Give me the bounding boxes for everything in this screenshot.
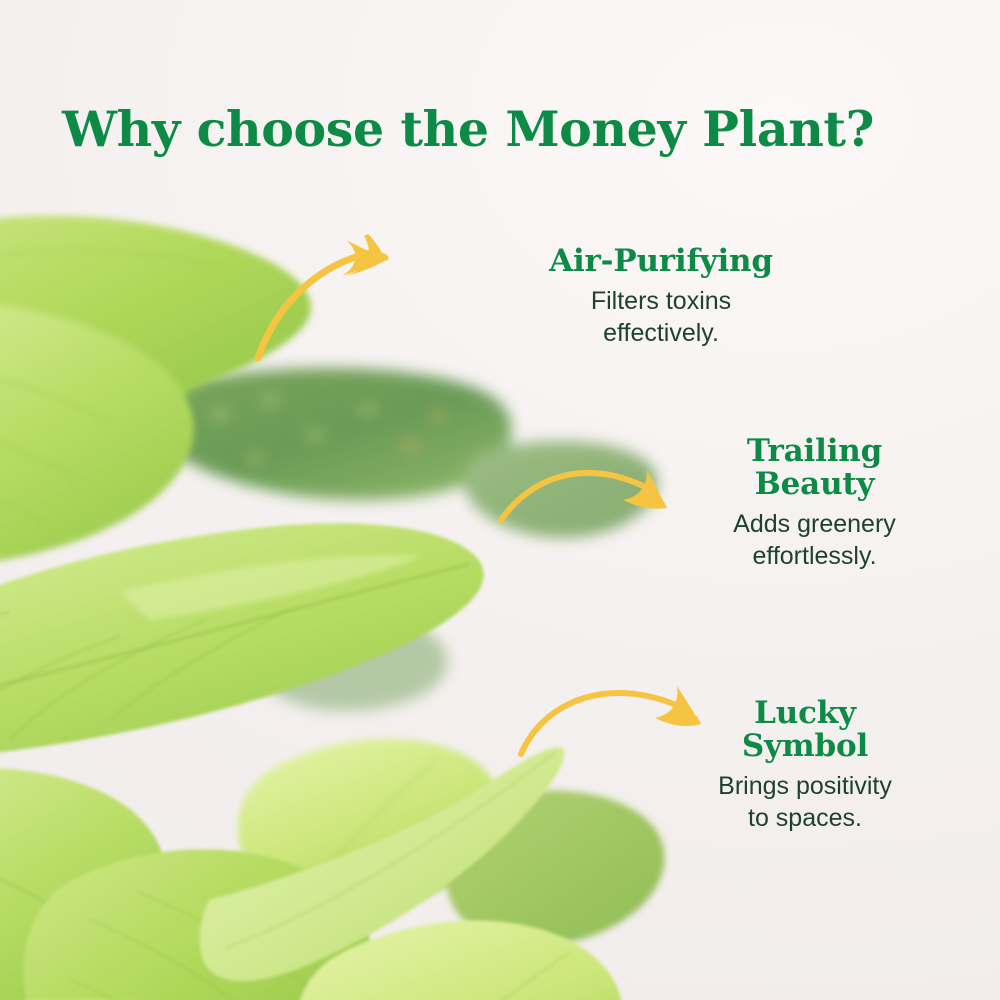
feature-air-purifying: Air-Purifying Filters toxins effectively… — [515, 245, 807, 349]
feature-lucky-symbol: Lucky Symbol Brings positivity to spaces… — [680, 697, 930, 834]
feature-description: Brings positivity to spaces. — [680, 770, 930, 834]
feature-trailing-beauty: Trailing Beauty Adds greenery effortless… — [692, 435, 937, 572]
feature-title: Lucky Symbol — [680, 697, 930, 763]
promotional-poster: Why choose the Money Plant? Air-Purifyin… — [0, 0, 1000, 1000]
page-title: Why choose the Money Plant? — [62, 100, 874, 158]
feature-title: Air-Purifying — [515, 245, 807, 278]
feature-description: Adds greenery effortlessly. — [692, 508, 937, 572]
feature-description: Filters toxins effectively. — [515, 285, 807, 349]
feature-title: Trailing Beauty — [692, 435, 937, 501]
